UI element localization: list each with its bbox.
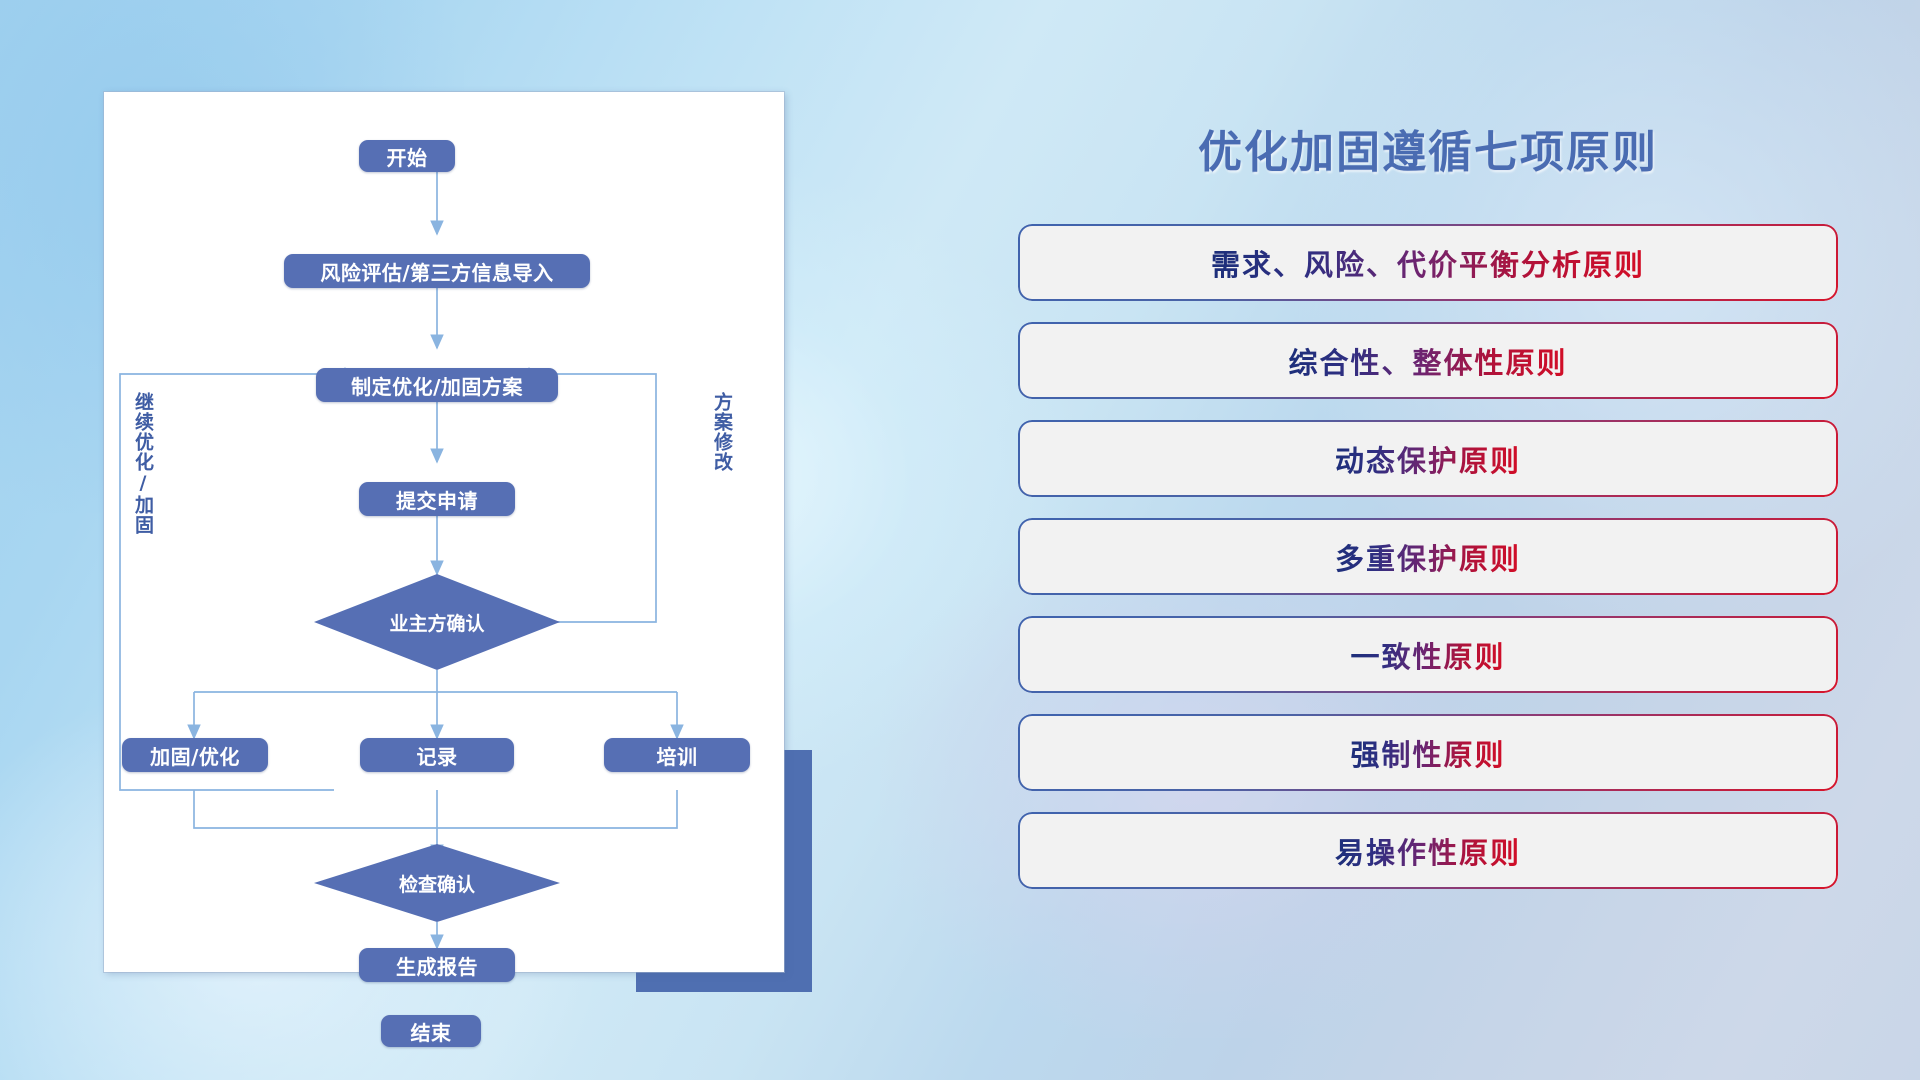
flow-node-label: 制定优化/加固方案 — [351, 371, 523, 400]
flow-node-label: 记录 — [417, 741, 458, 770]
principle-label: 易操作性原则 — [1335, 830, 1521, 872]
flow-node-label: 结束 — [411, 1017, 452, 1046]
principle-item-6[interactable]: 强制性原则 — [1018, 714, 1838, 791]
flow-node-label: 培训 — [657, 741, 698, 770]
flow-node-report[interactable]: 生成报告 — [359, 948, 515, 982]
panel-title: 优化加固遵循七项原则 — [1018, 116, 1838, 180]
principle-item-1[interactable]: 需求、风险、代价平衡分析原则 — [1018, 224, 1838, 301]
principle-item-7[interactable]: 易操作性原则 — [1018, 812, 1838, 889]
flow-node-label: 加固/优化 — [150, 741, 240, 770]
flow-node-label: 生成报告 — [396, 951, 478, 980]
flow-node-label: 业主方确认 — [389, 609, 484, 636]
flow-node-label: 风险评估/第三方信息导入 — [320, 257, 553, 286]
principle-item-3[interactable]: 动态保护原则 — [1018, 420, 1838, 497]
flow-node-end[interactable]: 结束 — [381, 1015, 481, 1047]
flow-node-start[interactable]: 开始 — [359, 140, 455, 172]
principle-item-4[interactable]: 多重保护原则 — [1018, 518, 1838, 595]
principle-label: 需求、风险、代价平衡分析原则 — [1211, 242, 1645, 284]
flow-node-label: 提交申请 — [396, 485, 478, 514]
principle-label: 一致性原则 — [1350, 634, 1505, 676]
flowchart-card: 开始 风险评估/第三方信息导入 制定优化/加固方案 提交申请 业主方确认 加固/… — [104, 92, 784, 972]
principle-label: 综合性、整体性原则 — [1288, 340, 1567, 382]
flow-node-plan[interactable]: 制定优化/加固方案 — [316, 368, 558, 402]
flow-node-record[interactable]: 记录 — [360, 738, 514, 772]
flow-node-submit[interactable]: 提交申请 — [359, 482, 515, 516]
principles-panel: 优化加固遵循七项原则 需求、风险、代价平衡分析原则 综合性、整体性原则 动态保护… — [1018, 96, 1838, 1006]
principles-list: 需求、风险、代价平衡分析原则 综合性、整体性原则 动态保护原则 多重保护原则 一… — [1018, 224, 1838, 889]
flow-node-label: 检查确认 — [399, 870, 475, 897]
flow-edge-label-left-loop: 继续优化/加固 — [132, 392, 152, 535]
flowchart-connectors — [104, 92, 784, 972]
principle-label: 强制性原则 — [1350, 732, 1505, 774]
flow-node-reinforce[interactable]: 加固/优化 — [122, 738, 268, 772]
flow-node-label: 开始 — [387, 142, 428, 171]
flow-edge-label-right-loop: 方案修改 — [711, 392, 731, 472]
flow-node-training[interactable]: 培训 — [604, 738, 750, 772]
flow-node-risk-assessment[interactable]: 风险评估/第三方信息导入 — [284, 254, 590, 288]
principle-label: 多重保护原则 — [1335, 536, 1521, 578]
principle-item-2[interactable]: 综合性、整体性原则 — [1018, 322, 1838, 399]
principle-item-5[interactable]: 一致性原则 — [1018, 616, 1838, 693]
principle-label: 动态保护原则 — [1335, 438, 1521, 480]
